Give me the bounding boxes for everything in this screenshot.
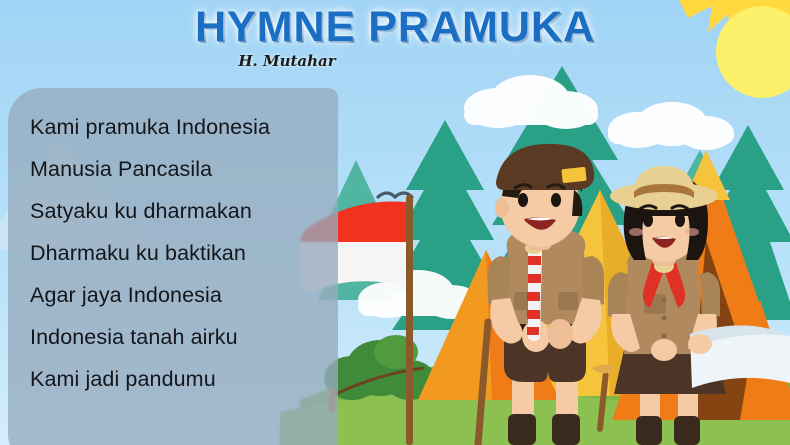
lyric-line: Satyaku ku dharmakan — [30, 190, 324, 232]
beret-badge — [561, 167, 586, 183]
lyric-line: Dharmaku ku baktikan — [30, 232, 324, 274]
lyrics-panel: Kami pramuka Indonesia Manusia Pancasila… — [8, 88, 338, 445]
lyric-line: Kami jadi pandumu — [30, 358, 324, 400]
lyric-line: Agar jaya Indonesia — [30, 274, 324, 316]
slide-canvas: HYMNE PRAMUKA H. Mutahar Kami pramuka In… — [0, 0, 790, 445]
lyric-line: Indonesia tanah airku — [30, 316, 324, 358]
lyric-line: Manusia Pancasila — [30, 148, 324, 190]
lyric-line: Kami pramuka Indonesia — [30, 106, 324, 148]
